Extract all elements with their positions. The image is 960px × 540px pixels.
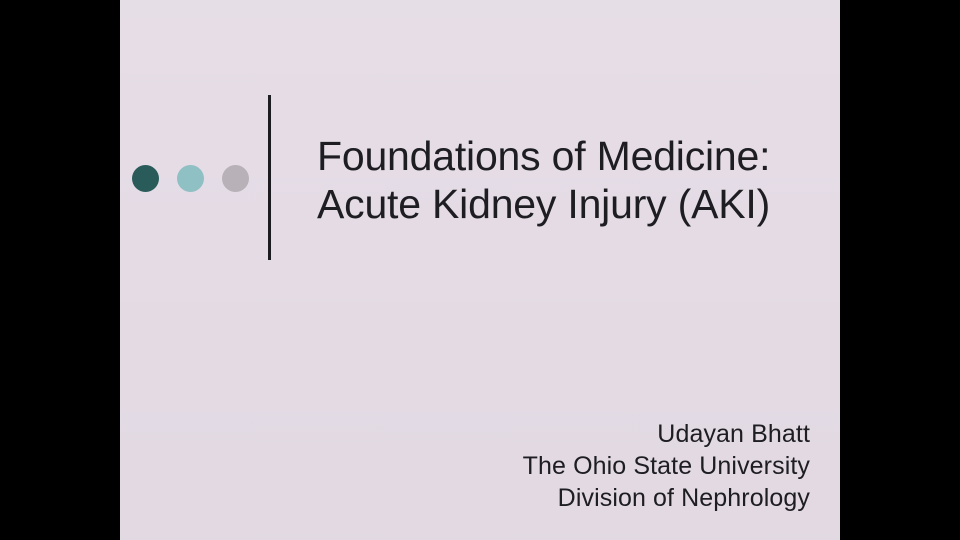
dot-light-teal-icon [177,165,204,192]
letterbox-bar-right [840,0,960,540]
slide-title: Foundations of Medicine: Acute Kidney In… [317,132,827,228]
presenter-name: Udayan Bhatt [523,418,810,450]
dot-dark-teal-icon [132,165,159,192]
video-frame: Foundations of Medicine: Acute Kidney In… [0,0,960,540]
dot-gray-icon [222,165,249,192]
presentation-slide: Foundations of Medicine: Acute Kidney In… [120,0,840,540]
slide-title-line-2: Acute Kidney Injury (AKI) [317,180,827,228]
vertical-divider-rule [268,95,271,260]
presenter-institution: The Ohio State University [523,450,810,482]
slide-attribution: Udayan Bhatt The Ohio State University D… [523,418,810,514]
presenter-department: Division of Nephrology [523,482,810,514]
slide-title-line-1: Foundations of Medicine: [317,132,827,180]
letterbox-bar-left [0,0,120,540]
decorative-dot-group [132,165,249,192]
